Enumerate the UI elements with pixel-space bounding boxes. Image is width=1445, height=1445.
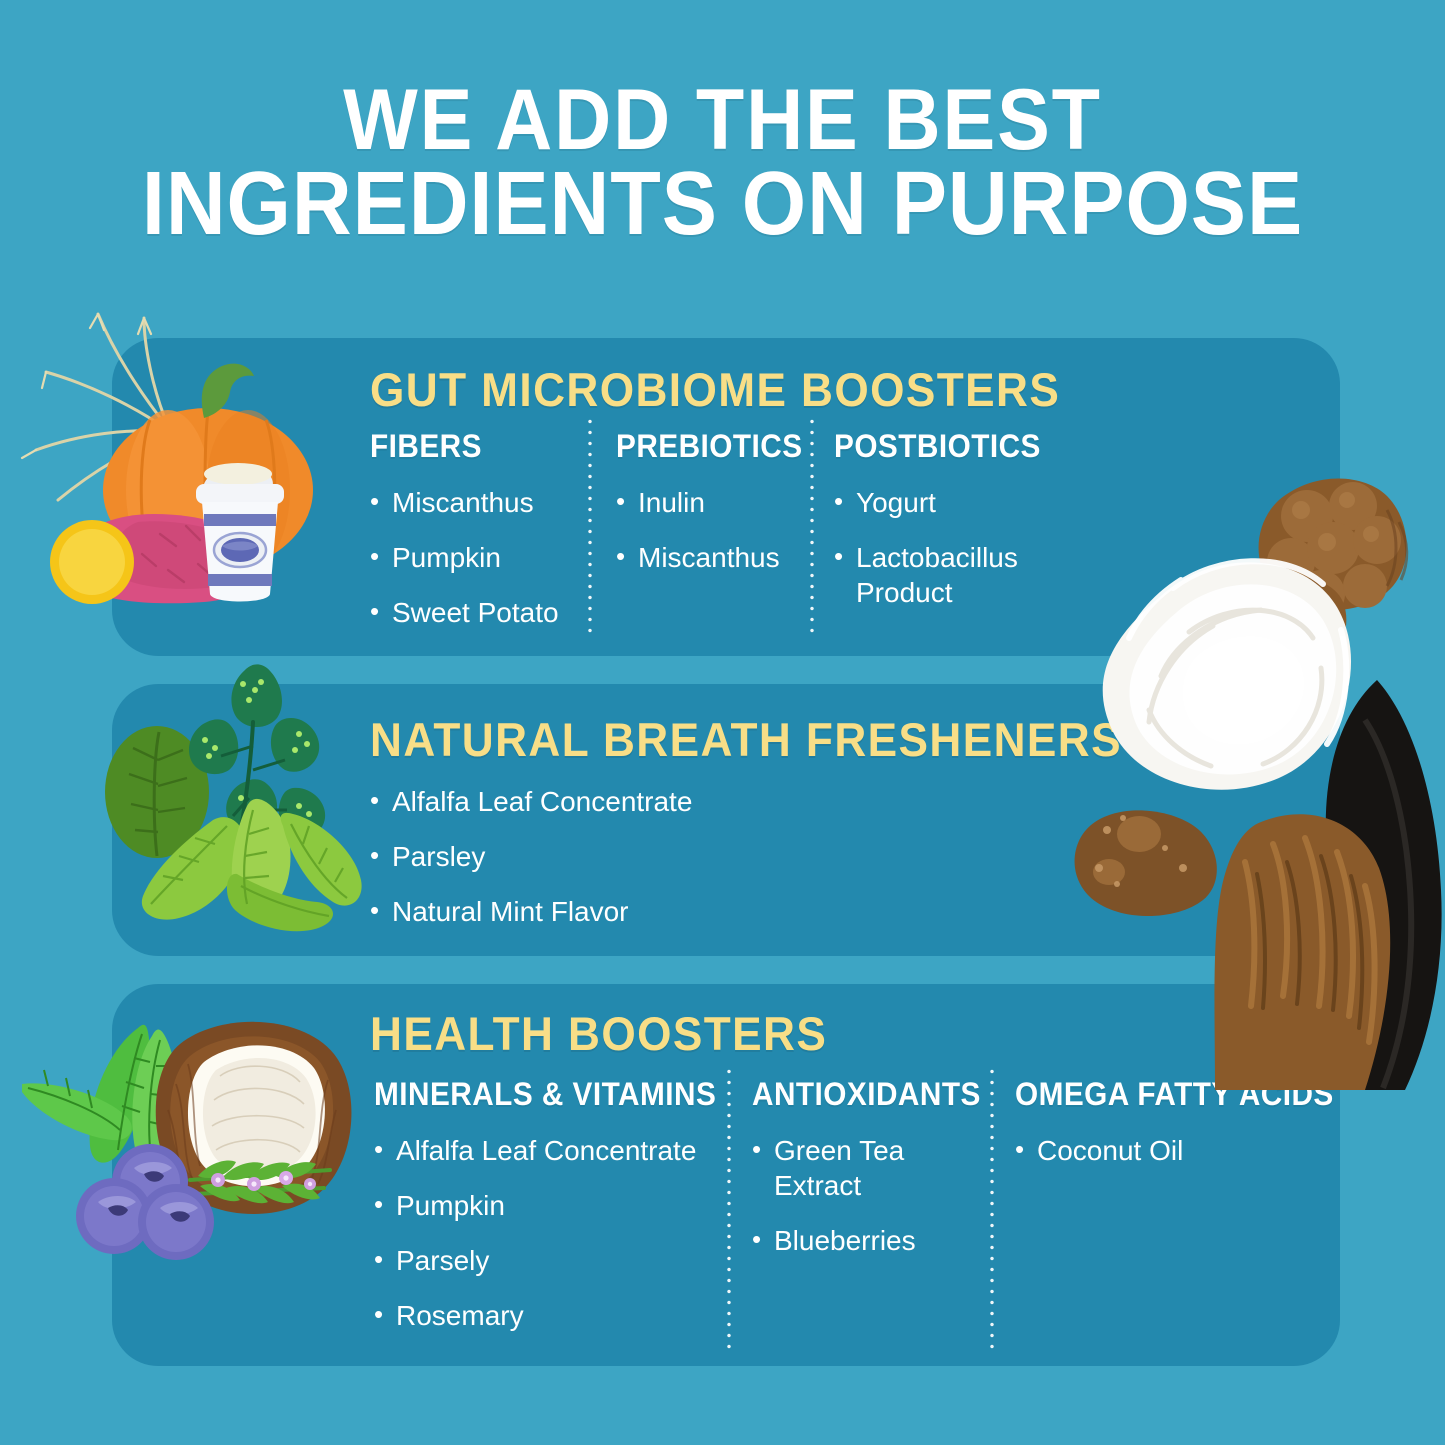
column-heading: MINERALS & VITAMINS: [374, 1076, 695, 1113]
page-title-line2: INGREDIENTS ON PURPOSE: [58, 162, 1387, 246]
column-prebiotics: PREBIOTICS Inulin Miscanthus: [616, 428, 806, 595]
column-items: Miscanthus Pumpkin Sweet Potato: [370, 485, 580, 630]
list-item: Rosemary: [374, 1298, 719, 1333]
list-item: Parsely: [374, 1243, 719, 1278]
card-columns: FIBERS Miscanthus Pumpkin Sweet Potato P…: [112, 338, 1340, 656]
list-item: Pumpkin: [370, 540, 580, 575]
column-items: Alfalfa Leaf Concentrate Parsley Natural…: [370, 784, 970, 929]
column-items: Coconut Oil: [1015, 1133, 1315, 1168]
page-title-line1: WE ADD THE BEST: [58, 78, 1387, 162]
column-heading: OMEGA FATTY ACIDS: [1015, 1076, 1294, 1113]
column-breath-fresheners: Alfalfa Leaf Concentrate Parsley Natural…: [370, 784, 970, 949]
column-fibers: FIBERS Miscanthus Pumpkin Sweet Potato: [370, 428, 580, 650]
column-omega-fatty-acids: OMEGA FATTY ACIDS Coconut Oil: [1015, 1076, 1315, 1188]
column-divider: [588, 416, 592, 634]
list-item: Alfalfa Leaf Concentrate: [374, 1133, 719, 1168]
column-divider: [727, 1066, 731, 1350]
list-item: Green Tea Extract: [752, 1133, 952, 1203]
column-divider: [990, 1066, 994, 1350]
list-item: Pumpkin: [374, 1188, 719, 1223]
column-antioxidants: ANTIOXIDANTS Green Tea Extract Blueberri…: [752, 1076, 952, 1278]
column-items: Yogurt Lactobacillus Product: [834, 485, 1064, 610]
list-item: Miscanthus: [616, 540, 806, 575]
column-items: Inulin Miscanthus: [616, 485, 806, 575]
card-gut-microbiome-boosters: GUT MICROBIOME BOOSTERS FIBERS Miscanthu…: [112, 338, 1340, 656]
column-heading: ANTIOXIDANTS: [752, 1076, 938, 1113]
list-item: Miscanthus: [370, 485, 580, 520]
column-heading: PREBIOTICS: [616, 428, 793, 465]
column-items: Green Tea Extract Blueberries: [752, 1133, 952, 1258]
column-heading: FIBERS: [370, 428, 565, 465]
page-title: WE ADD THE BEST INGREDIENTS ON PURPOSE: [58, 78, 1387, 246]
list-item: Coconut Oil: [1015, 1133, 1315, 1168]
column-heading: POSTBIOTICS: [834, 428, 1048, 465]
list-item: Natural Mint Flavor: [370, 894, 970, 929]
card-columns: MINERALS & VITAMINS Alfalfa Leaf Concent…: [112, 984, 1340, 1366]
list-item: Yogurt: [834, 485, 1064, 520]
column-divider: [810, 416, 814, 634]
list-item: Lactobacillus Product: [834, 540, 1064, 610]
card-columns: Alfalfa Leaf Concentrate Parsley Natural…: [112, 684, 1340, 956]
column-minerals-vitamins: MINERALS & VITAMINS Alfalfa Leaf Concent…: [374, 1076, 719, 1353]
card-health-boosters: HEALTH BOOSTERS MINERALS & VITAMINS Alfa…: [112, 984, 1340, 1366]
list-item: Blueberries: [752, 1223, 952, 1258]
list-item: Inulin: [616, 485, 806, 520]
column-items: Alfalfa Leaf Concentrate Pumpkin Parsely…: [374, 1133, 719, 1333]
list-item: Parsley: [370, 839, 970, 874]
card-natural-breath-fresheners: NATURAL BREATH FRESHENERS Alfalfa Leaf C…: [112, 684, 1340, 956]
list-item: Alfalfa Leaf Concentrate: [370, 784, 970, 819]
list-item: Sweet Potato: [370, 595, 580, 630]
column-postbiotics: POSTBIOTICS Yogurt Lactobacillus Product: [834, 428, 1064, 630]
